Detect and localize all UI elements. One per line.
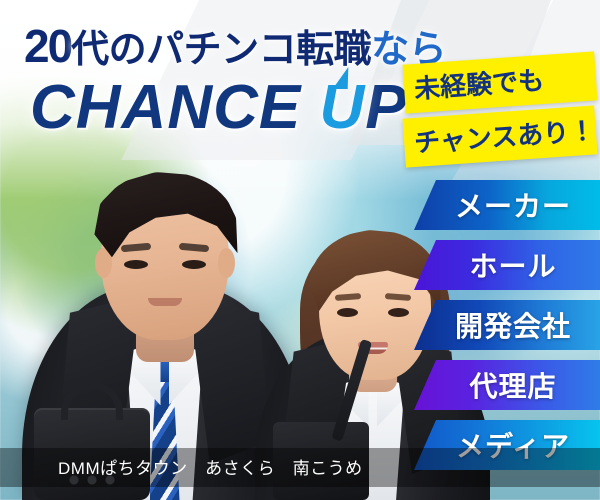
chance-up-logo: CHANCE UP [30,72,408,143]
male-eye-right [182,260,206,269]
logo-letter-p: P [365,73,407,142]
menu-item-label: ホール [469,245,556,285]
male-mouth [148,298,182,306]
logo-chance-word: CHANCE [30,73,301,142]
caption-bar: DMMぱちタウン あさくら 南こうめ [0,448,600,487]
female-eye-left [337,308,358,317]
headline-body: 代のパチンコ転職 [71,29,371,71]
status-badge: 未経験でも チャンスあり！ [404,58,596,161]
menu-item-maker[interactable]: メーカー [414,180,600,230]
menu-item-hall[interactable]: ホール [414,240,600,290]
badge-line-2: チャンスあり！ [403,105,598,167]
male-eye-left [124,260,148,269]
menu-item-label: メーカー [455,185,571,225]
female-eye-right [388,308,409,317]
menu-item-development-company[interactable]: 開発会社 [414,300,600,350]
headline-number: 20 [24,20,71,72]
banner-advertisement: 20代のパチンコ転職なら CHANCE UP 未経験でも チャンスあり！ メーカ… [0,0,600,500]
logo-letter-u: U [319,73,365,142]
page-title: 20代のパチンコ転職なら [24,18,446,73]
badge-line-1: 未経験でも [403,51,598,113]
menu-item-label: 代理店 [469,365,556,405]
male-ear-right [218,248,235,278]
category-menu: メーカー ホール 開発会社 代理店 メディア [414,180,600,470]
menu-item-label: 開発会社 [455,305,571,345]
menu-item-agency[interactable]: 代理店 [414,360,600,410]
